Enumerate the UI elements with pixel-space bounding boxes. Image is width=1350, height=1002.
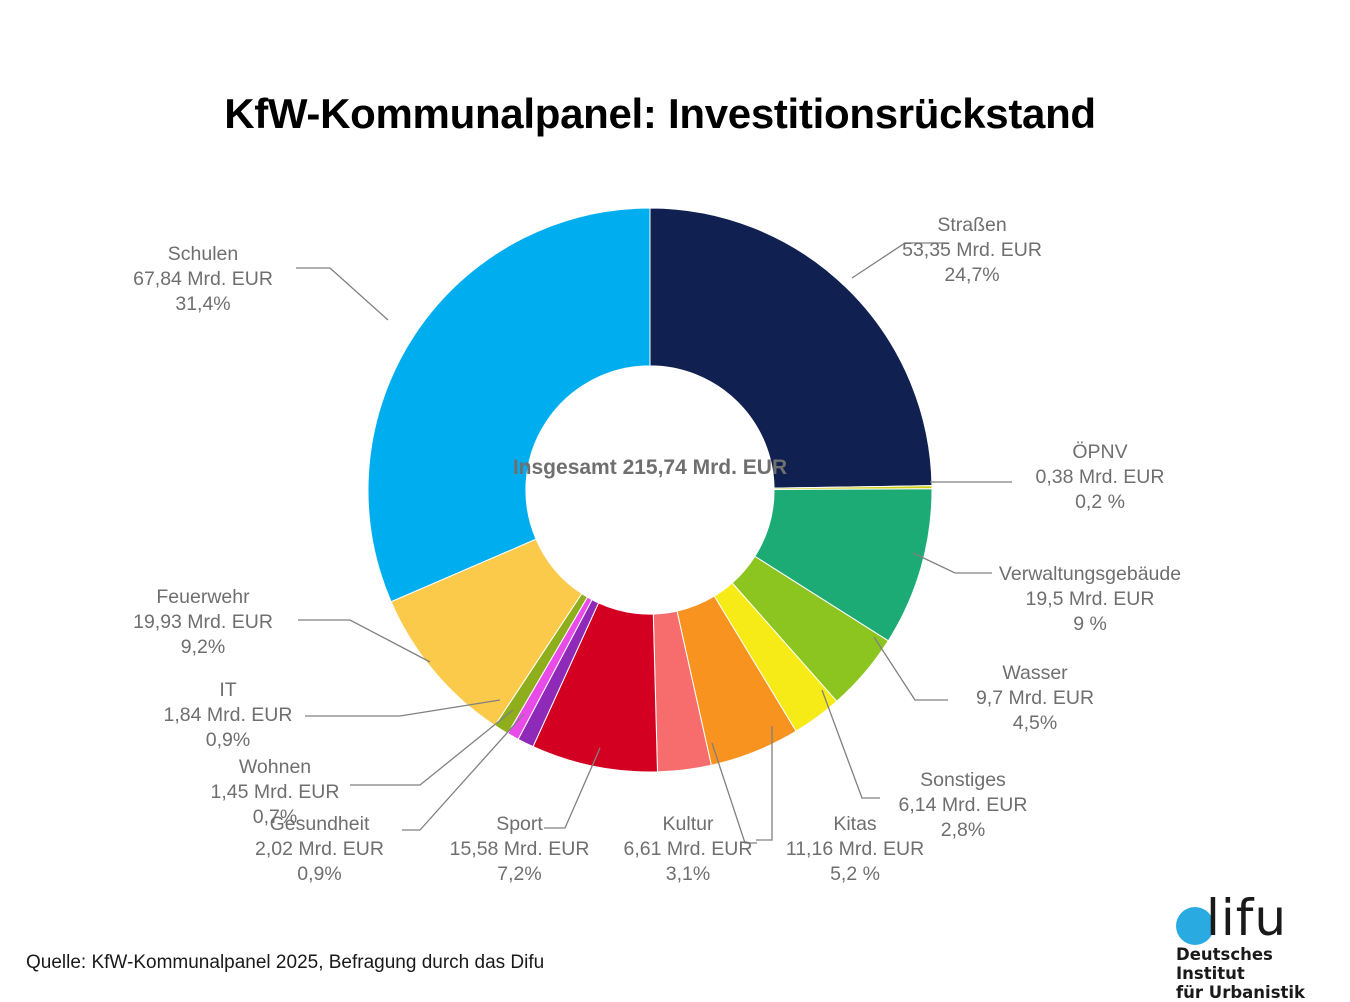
slice-label-wohnen-value: 1,45 Mrd. EUR [190,780,360,805]
slice-label-sport-name: Sport [432,812,607,837]
slice-label-sport-value: 15,58 Mrd. EUR [432,837,607,862]
slice-label-feuerwehr-name: Feuerwehr [108,585,298,610]
donut-slice-group [368,208,932,772]
slice-label-verwaltungsgebaeude-value: 19,5 Mrd. EUR [985,587,1195,612]
slice-label-schulen-percent: 31,4% [108,292,298,317]
slice-label-feuerwehr: Feuerwehr 19,93 Mrd. EUR 9,2% [108,585,298,660]
slice-label-schulen-value: 67,84 Mrd. EUR [108,267,298,292]
slice-label-oepnv-name: ÖPNV [1000,440,1200,465]
slice-label-wasser-value: 9,7 Mrd. EUR [940,686,1130,711]
slice-label-kultur-percent: 3,1% [608,862,768,887]
slice-label-wasser-percent: 4,5% [940,711,1130,736]
difu-logo: lifu Deutsches Institut für Urbanistik [1176,893,1326,985]
slice-label-gesundheit-percent: 0,9% [232,862,407,887]
slice-label-strassen-name: Straßen [872,213,1072,238]
slice-label-gesundheit-value: 2,02 Mrd. EUR [232,837,407,862]
source-note: Quelle: KfW-Kommunalpanel 2025, Befragun… [26,952,544,974]
slice-label-sonstiges-name: Sonstiges [868,768,1058,793]
slice-label-strassen-percent: 24,7% [872,263,1072,288]
difu-logo-wordmark: lifu [1176,893,1326,945]
slice-label-strassen: Straßen 53,35 Mrd. EUR 24,7% [872,213,1072,288]
slice-label-kultur: Kultur 6,61 Mrd. EUR 3,1% [608,812,768,887]
slice-label-sport-percent: 7,2% [432,862,607,887]
slice-label-kitas-name: Kitas [760,812,950,837]
slice-label-it-value: 1,84 Mrd. EUR [148,703,308,728]
slice-label-feuerwehr-percent: 9,2% [108,635,298,660]
slice-label-kitas-value: 11,16 Mrd. EUR [760,837,950,862]
difu-logo-subtitle-line1: Deutsches Institut [1176,945,1326,983]
slice-label-kitas: Kitas 11,16 Mrd. EUR 5,2 % [760,812,950,887]
slice-label-wasser: Wasser 9,7 Mrd. EUR 4,5% [940,661,1130,736]
slice-label-kitas-percent: 5,2 % [760,862,950,887]
slice-label-it: IT 1,84 Mrd. EUR 0,9% [148,678,308,753]
slice-label-wohnen: Wohnen 1,45 Mrd. EUR 0,7% [190,755,360,830]
donut-slice-schulen[interactable] [368,208,650,602]
slice-label-verwaltungsgebaeude-percent: 9 % [985,612,1195,637]
slice-label-it-percent: 0,9% [148,728,308,753]
slice-label-oepnv-value: 0,38 Mrd. EUR [1000,465,1200,490]
slice-label-it-name: IT [148,678,308,703]
slice-label-feuerwehr-value: 19,93 Mrd. EUR [108,610,298,635]
slice-label-verwaltungsgebaeude: Verwaltungsgebäude 19,5 Mrd. EUR 9 % [985,562,1195,637]
slice-label-oepnv: ÖPNV 0,38 Mrd. EUR 0,2 % [1000,440,1200,515]
slice-label-verwaltungsgebaeude-name: Verwaltungsgebäude [985,562,1195,587]
leader-line-schulen [296,268,388,320]
difu-logo-text: lifu [1206,891,1287,945]
slice-label-sport: Sport 15,58 Mrd. EUR 7,2% [432,812,607,887]
slice-label-schulen-name: Schulen [108,242,298,267]
donut-center-total: Insgesamt 215,74 Mrd. EUR [490,454,810,481]
slice-label-kultur-name: Kultur [608,812,768,837]
center-total-value: 215,74 Mrd. EUR [623,456,788,479]
difu-logo-subtitle: Deutsches Institut für Urbanistik [1176,945,1326,1002]
difu-logo-subtitle-line2: für Urbanistik [1176,983,1326,1002]
donut-chart: Insgesamt 215,74 Mrd. EUR Straßen 53,35 … [0,0,1350,1000]
slice-label-wohnen-name: Wohnen [190,755,360,780]
slice-label-strassen-value: 53,35 Mrd. EUR [872,238,1072,263]
slice-label-schulen: Schulen 67,84 Mrd. EUR 31,4% [108,242,298,317]
slice-label-kultur-value: 6,61 Mrd. EUR [608,837,768,862]
slice-label-wasser-name: Wasser [940,661,1130,686]
center-total-label: Insgesamt [513,456,617,479]
slice-label-wohnen-percent: 0,7% [190,805,360,830]
slice-label-oepnv-percent: 0,2 % [1000,490,1200,515]
